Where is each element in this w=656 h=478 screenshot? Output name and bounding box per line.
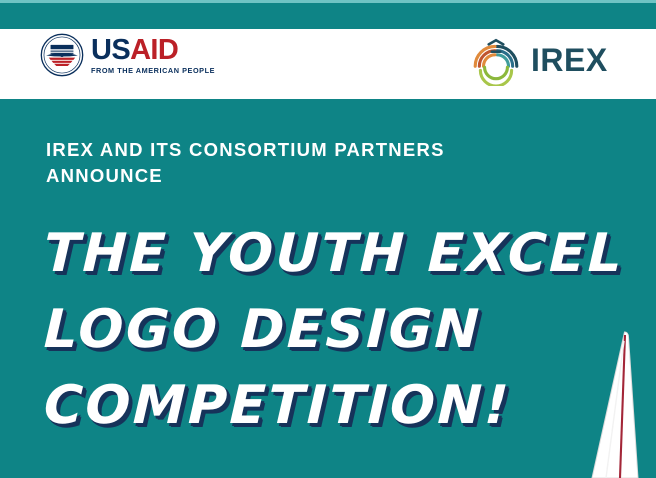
usaid-logo: USAID FROM THE AMERICAN PEOPLE — [40, 33, 215, 77]
usaid-wordmark-aid: AID — [130, 34, 178, 66]
usaid-wordmark-us: US — [91, 34, 130, 66]
headline-line-1: THE YOUTH EXCEL — [43, 216, 626, 292]
irex-radiating-arcs-icon — [470, 34, 522, 86]
usaid-wordmark: USAID — [91, 36, 215, 65]
headline-line-2: LOGO DESIGN — [43, 292, 626, 368]
headline-block: THE YOUTH EXCEL LOGO DESIGN COMPETITION! — [44, 216, 624, 444]
headline-line-3: COMPETITION! — [43, 368, 626, 444]
irex-wordmark: IREX — [531, 44, 608, 76]
top-teal-band — [0, 3, 656, 29]
kicker-text: IREX AND ITS CONSORTIUM PARTNERS ANNOUNC… — [46, 137, 546, 188]
usaid-text-lockup: USAID FROM THE AMERICAN PEOPLE — [91, 36, 215, 74]
usaid-tagline: FROM THE AMERICAN PEOPLE — [91, 67, 215, 74]
irex-logo: IREX — [470, 34, 608, 86]
poster-canvas: USAID FROM THE AMERICAN PEOPLE IREX IREX… — [0, 0, 656, 478]
usaid-seal-icon — [40, 33, 84, 77]
